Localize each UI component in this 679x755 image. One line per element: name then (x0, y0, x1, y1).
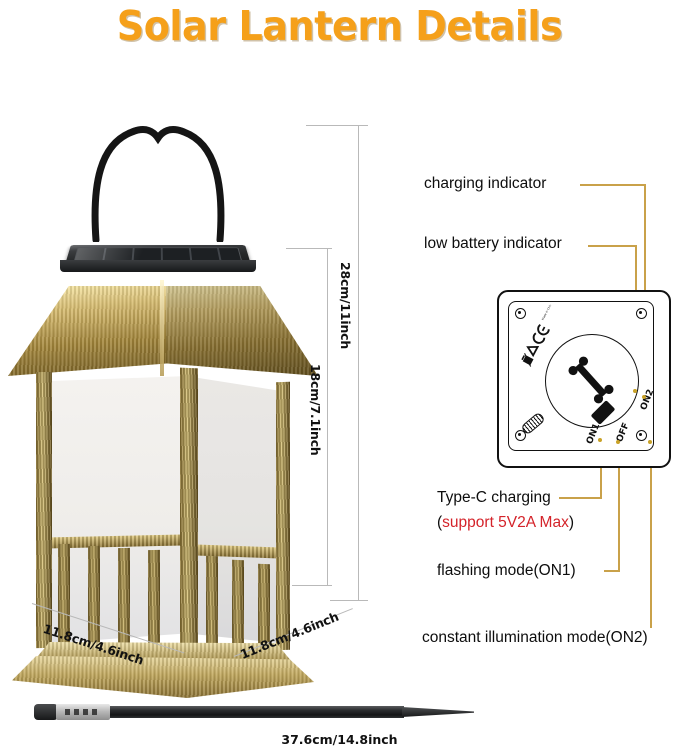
leader-charging-h (580, 184, 646, 186)
callout-type-c-note: (support 5V2A Max) (437, 514, 574, 532)
dim-tick-bottom-lantern (292, 585, 332, 586)
dim-label-stake-length: 37.6cm/14.8inch (0, 732, 679, 747)
product-detail-image: Solar Lantern Details (0, 0, 679, 755)
panel-screw-top-right (636, 308, 647, 319)
battery-cover-screw-icon (563, 352, 619, 408)
note-text: support 5V2A Max (442, 514, 569, 531)
corner-post-right (276, 382, 290, 650)
dim-label-total-height: 28cm/11inch (338, 262, 353, 349)
dim-line-total-height (358, 125, 359, 601)
on2-leader-dot (648, 440, 652, 444)
body-slats (36, 368, 290, 668)
dim-label-lantern-height: 18cm/7.1inch (308, 364, 323, 456)
lantern-handle-icon (84, 122, 232, 242)
corner-post-center (180, 368, 198, 655)
dim-tick-top-lantern (286, 248, 332, 249)
dim-tick-bottom-total (330, 600, 368, 601)
charging-led-icon (642, 395, 646, 399)
lantern-roof (8, 264, 318, 376)
base-flare (12, 656, 314, 698)
low-battery-led-icon (633, 389, 637, 393)
leader-constant-v (650, 446, 652, 628)
ce-mark-icon (532, 325, 550, 345)
leader-lowbattery-h (588, 245, 637, 247)
callout-charging-indicator: charging indicator (424, 175, 546, 193)
bottom-panel-diagram: Made in China ON1 OFF ON2 (497, 290, 669, 466)
callout-type-c-charging: Type-C charging (437, 489, 551, 507)
lantern-body (36, 368, 290, 668)
note-paren-close: ) (569, 514, 574, 531)
dim-line-lantern-height (327, 248, 328, 585)
stake-cap (34, 704, 58, 720)
stake-tip (402, 707, 474, 717)
recycling-icon (526, 343, 538, 355)
roof-face-left (8, 286, 168, 376)
roof-face-right (166, 286, 318, 376)
callout-low-battery-indicator: low battery indicator (424, 235, 562, 253)
svg-text:Made in China: Made in China (541, 302, 554, 321)
stake-collar (56, 704, 110, 720)
typec-leader-dot (598, 438, 602, 442)
on1-leader-dot (616, 440, 620, 444)
lantern-product-photo (8, 122, 318, 642)
ground-stake-icon (34, 700, 474, 724)
page-title: Solar Lantern Details (24, 2, 655, 50)
roof-ridge (160, 280, 164, 376)
leader-typec-h (559, 497, 602, 499)
callout-constant-mode: constant illumination mode(ON2) (422, 629, 648, 647)
leader-flashing-h (604, 570, 620, 572)
callout-flashing-mode: flashing mode(ON1) (437, 562, 576, 580)
panel-screw-bottom-right (636, 430, 647, 441)
